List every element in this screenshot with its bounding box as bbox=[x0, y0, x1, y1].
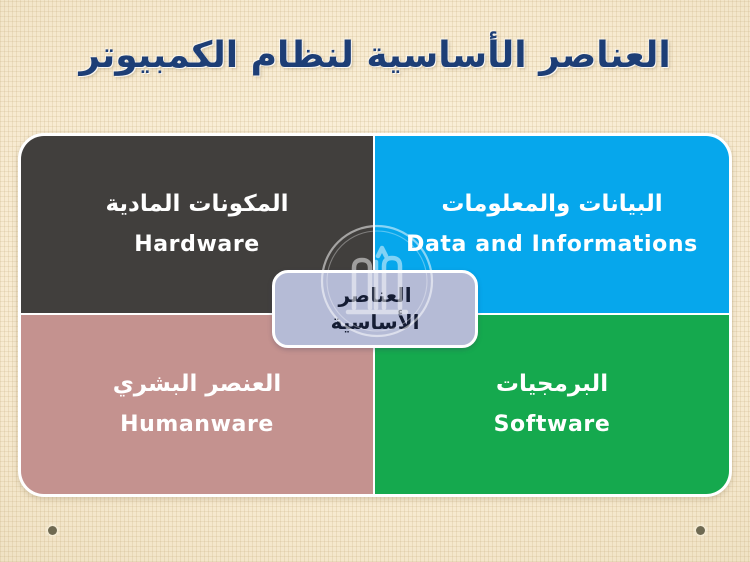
center-label-line-2: الأساسية bbox=[331, 310, 420, 335]
quadrant-humanware-arabic-label: العنصر البشري bbox=[113, 371, 282, 399]
slide-canvas: العناصر الأساسية لنظام الكمبيوتر المكونا… bbox=[0, 0, 750, 562]
quadrant-data-arabic-label: البيانات والمعلومات bbox=[441, 191, 662, 219]
center-label-line-1: العناصر bbox=[338, 283, 411, 308]
quadrant-hardware-arabic-label: المكونات المادية bbox=[105, 191, 288, 219]
quadrant-humanware-english-label: Humanware bbox=[120, 412, 274, 438]
center-callout-box[interactable]: العناصر الأساسية bbox=[272, 270, 478, 348]
quadrant-data-english-label: Data and Informations bbox=[406, 232, 698, 258]
quadrant-software-arabic-label: البرمجيات bbox=[496, 371, 608, 399]
decorative-dot-left bbox=[48, 526, 57, 535]
quadrant-hardware-english-label: Hardware bbox=[134, 232, 260, 258]
title-bar: العناصر الأساسية لنظام الكمبيوتر bbox=[0, 14, 750, 96]
decorative-dot-right bbox=[696, 526, 705, 535]
quadrant-software-english-label: Software bbox=[494, 412, 611, 438]
page-title: العناصر الأساسية لنظام الكمبيوتر bbox=[79, 35, 670, 76]
